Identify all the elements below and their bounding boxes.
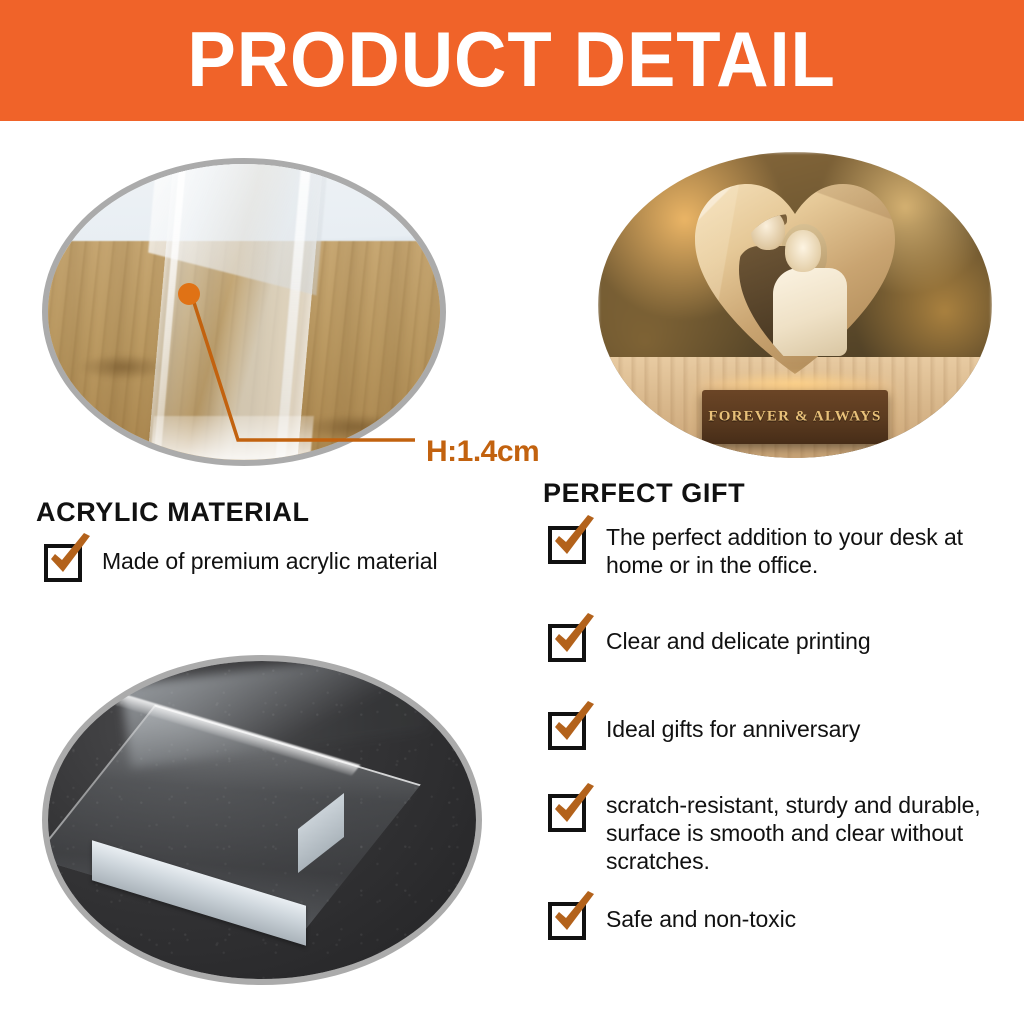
checkbox-checked[interactable] [548, 620, 590, 662]
photo-acrylic-block [42, 655, 482, 985]
callout-point-marker [178, 283, 200, 305]
checkmark-icon [547, 700, 599, 752]
crystal-heart-group [691, 178, 899, 374]
feature-item: The perfect addition to your desk at hom… [548, 522, 1000, 579]
bride-head [785, 230, 821, 272]
acrylic-base-reflection [150, 416, 314, 460]
wood-knot [298, 414, 418, 440]
feature-item: Clear and delicate printing [548, 620, 1000, 662]
checkmark-icon [547, 782, 599, 834]
checkbox-checked[interactable] [548, 522, 590, 564]
feature-label: Clear and delicate printing [606, 620, 871, 655]
height-measurement-label: H:1.4cm [426, 435, 539, 469]
feature-item: Made of premium acrylic material [44, 540, 514, 582]
checkmark-icon [43, 532, 95, 584]
checkmark-icon [547, 890, 599, 942]
feature-label: Ideal gifts for anniversary [606, 708, 860, 743]
wooden-light-base: FOREVER & ALWAYS [702, 390, 888, 444]
feature-label: Safe and non-toxic [606, 898, 796, 933]
feature-item: scratch-resistant, sturdy and durable, s… [548, 790, 1000, 875]
feature-label: scratch-resistant, sturdy and durable, s… [606, 790, 1000, 875]
feature-item: Ideal gifts for anniversary [548, 708, 1000, 750]
feature-item: Safe and non-toxic [548, 898, 1000, 940]
page-title: PRODUCT DETAIL [188, 20, 836, 102]
feature-label: The perfect addition to your desk at hom… [606, 522, 1000, 579]
product-detail-infographic: PRODUCT DETAIL H:1.4cm [0, 0, 1024, 1024]
photo-crystal-heart: FOREVER & ALWAYS [598, 152, 992, 458]
checkbox-checked[interactable] [548, 898, 590, 940]
checkmark-icon [547, 612, 599, 664]
header-banner: PRODUCT DETAIL [0, 0, 1024, 121]
checkmark-icon [547, 514, 599, 566]
checkbox-checked[interactable] [44, 540, 86, 582]
section-heading-acrylic-material: ACRYLIC MATERIAL [36, 497, 310, 528]
section-heading-perfect-gift: PERFECT GIFT [543, 478, 745, 509]
checkbox-checked[interactable] [548, 790, 590, 832]
base-engraving-text: FOREVER & ALWAYS [702, 409, 888, 426]
checkbox-checked[interactable] [548, 708, 590, 750]
feature-label: Made of premium acrylic material [102, 540, 438, 575]
photo-acrylic-edge [42, 158, 446, 466]
bride-body [773, 268, 847, 356]
